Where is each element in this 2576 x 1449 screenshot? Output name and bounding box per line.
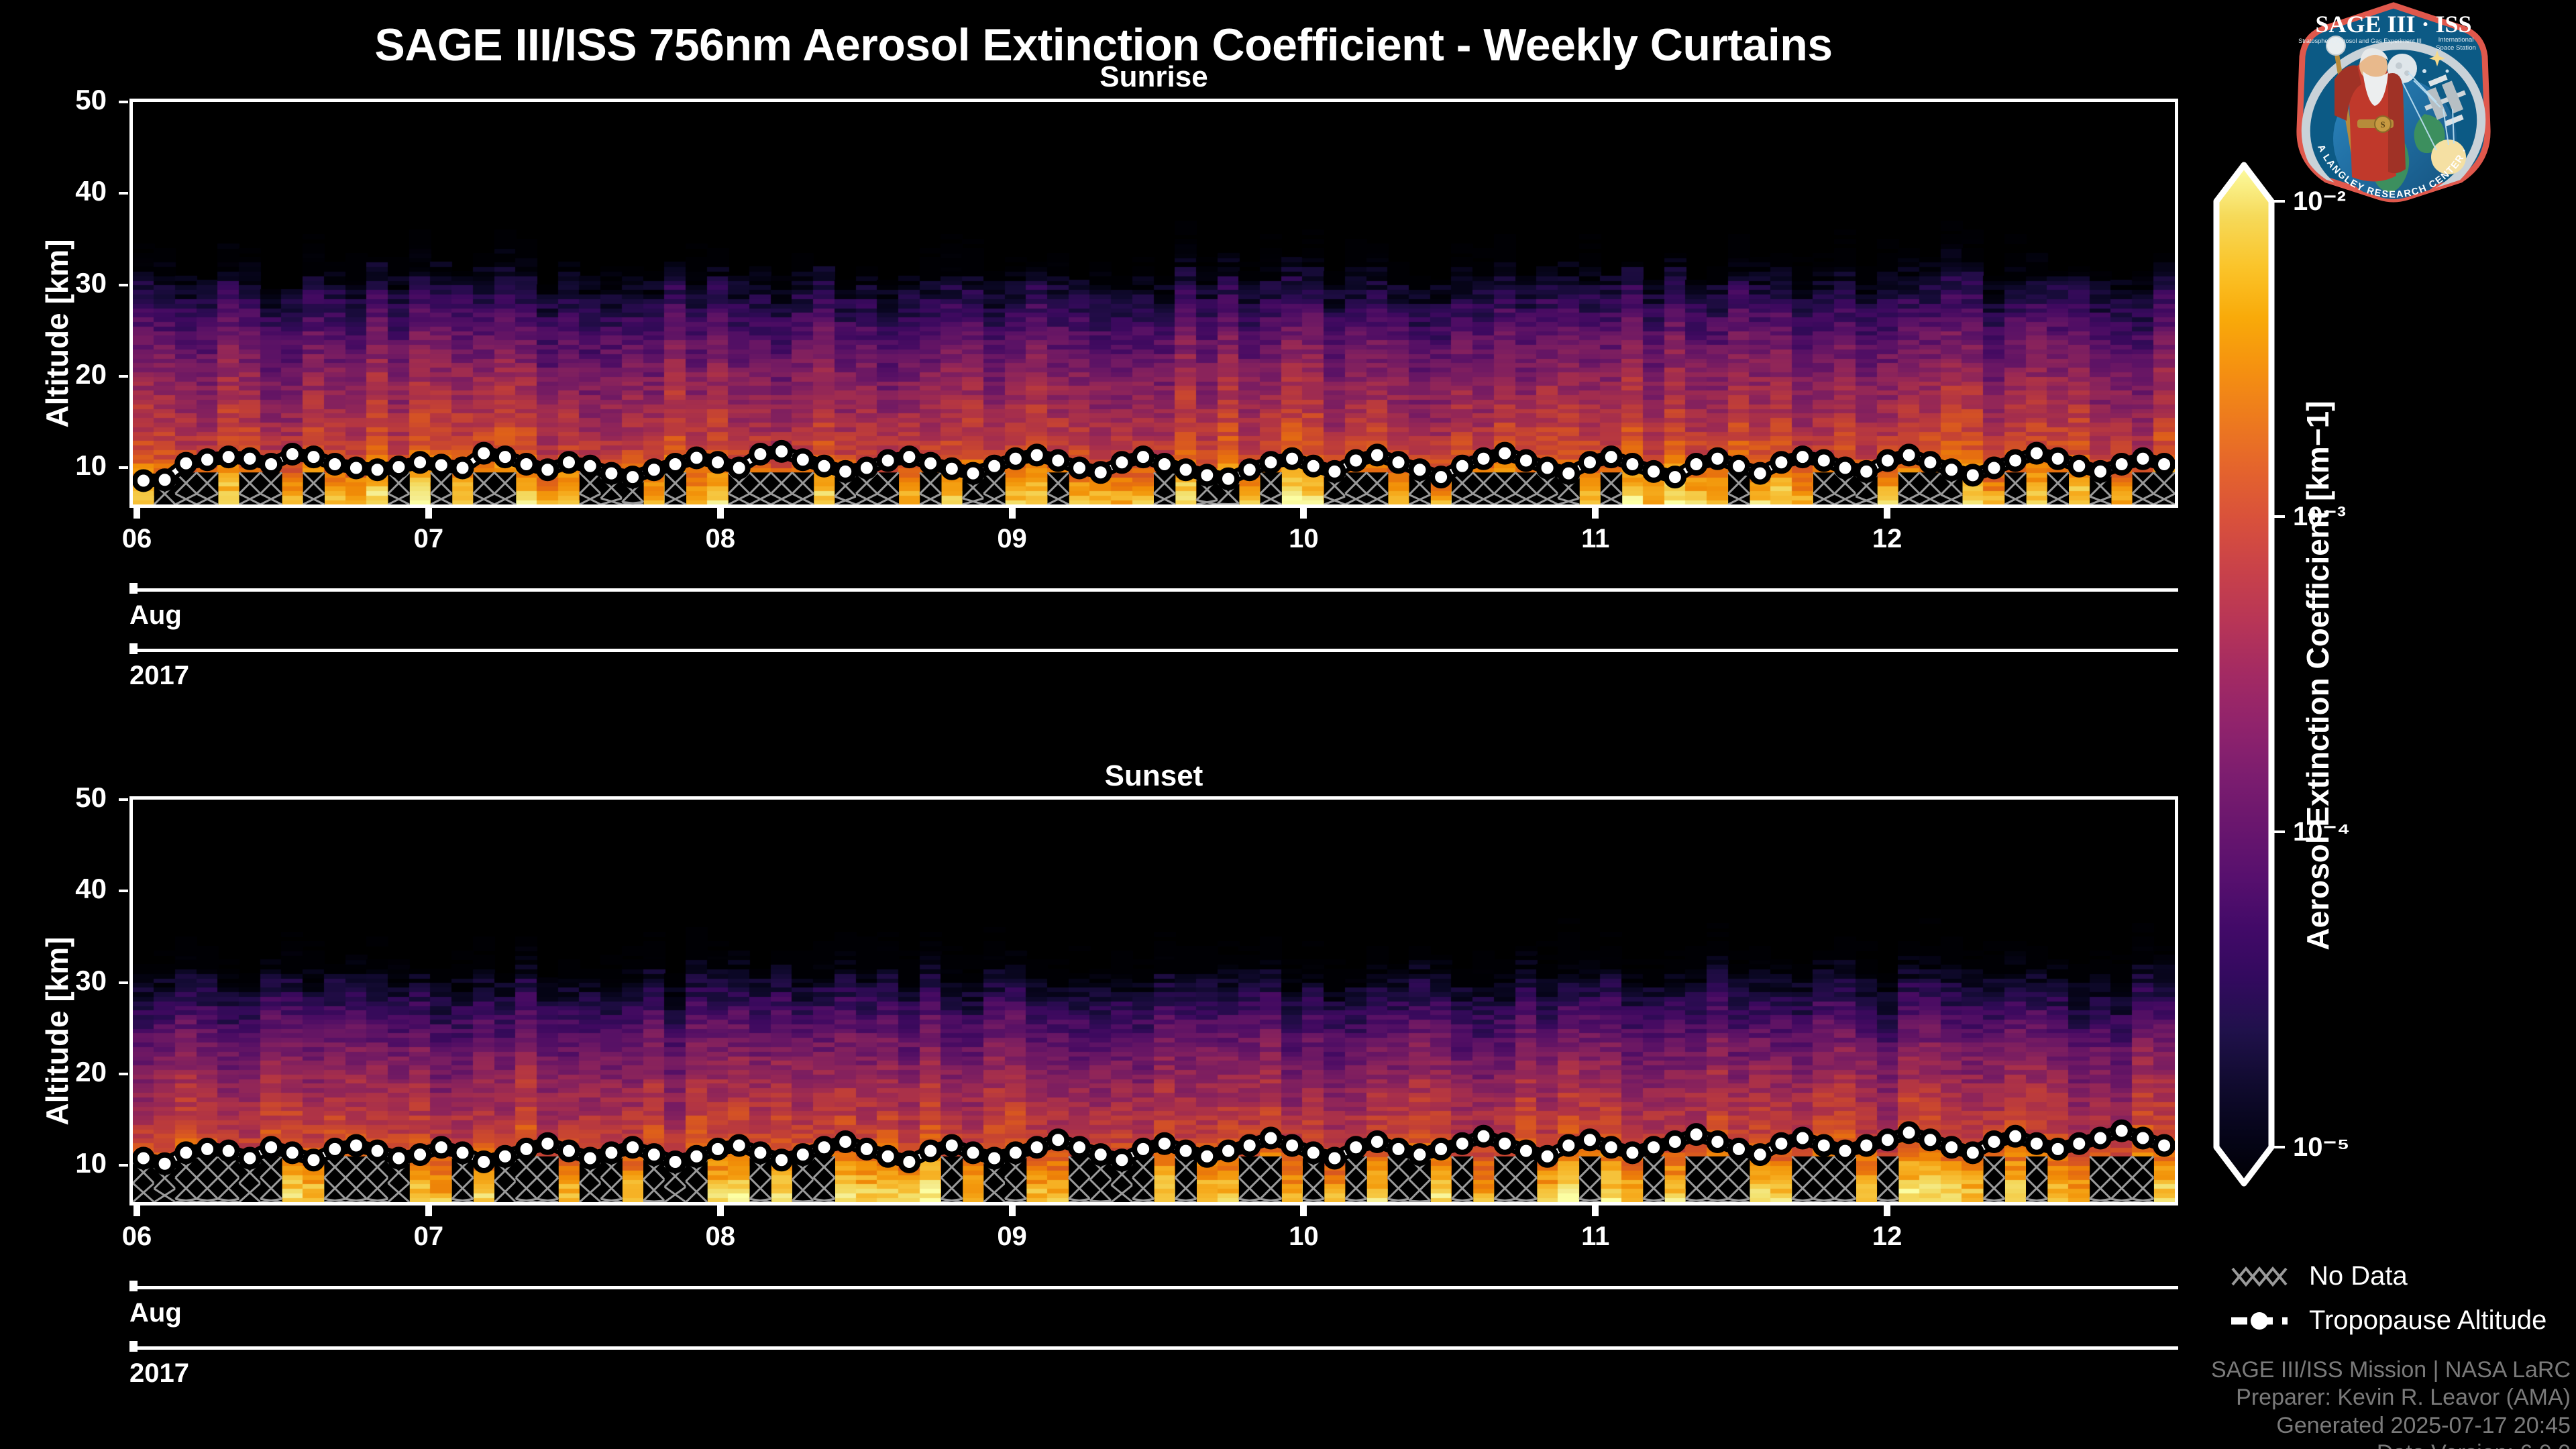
y-tick-label: 40	[0, 873, 107, 905]
x-tick-label: 07	[414, 524, 444, 554]
tropopause-marker	[390, 458, 407, 476]
tropopause-marker	[731, 1137, 748, 1155]
tropopause-marker	[985, 1150, 1003, 1167]
tropopause-marker	[1921, 453, 1939, 471]
tropopause-marker	[879, 1148, 897, 1165]
tropopause-marker	[1326, 1150, 1344, 1167]
tropopause-marker	[284, 1144, 301, 1161]
hatch-cross-icon	[2229, 1262, 2290, 1291]
tropopause-marker	[1283, 1137, 1301, 1155]
x-tick-mark	[717, 1205, 724, 1216]
tropopause-marker	[1900, 446, 1918, 464]
logo-subtitle-right-2: Space Station	[2436, 44, 2476, 52]
tropopause-marker	[900, 1153, 918, 1171]
tropopause-marker	[518, 1140, 535, 1158]
tropopause-marker	[965, 465, 982, 482]
x-tick-mark	[717, 508, 724, 519]
tropopause-marker	[2134, 450, 2151, 468]
tropopause-marker	[241, 1150, 258, 1167]
tropopause-marker	[326, 455, 343, 473]
y-tick-mark	[119, 101, 128, 103]
tropopause-marker	[1071, 460, 1088, 477]
footer-line-preparer: Preparer: Kevin R. Leavor (AMA)	[2155, 1384, 2571, 1411]
tropopause-marker	[560, 453, 578, 471]
tropopause-marker	[985, 458, 1003, 475]
tropopause-marker	[220, 1142, 237, 1160]
tropopause-marker	[454, 460, 472, 477]
tropopause-marker	[1986, 460, 2003, 477]
tropopause-marker	[1794, 448, 1811, 466]
tropopause-marker	[539, 1135, 556, 1152]
tropopause-marker	[1815, 1137, 1833, 1155]
tropopause-marker	[751, 445, 769, 463]
tropopause-marker	[1454, 1135, 1471, 1152]
tropopause-marker	[1496, 445, 1513, 462]
tropopause-marker	[879, 452, 897, 470]
x-tick-label: 12	[1872, 524, 1902, 554]
y-tick-label: 40	[0, 175, 107, 207]
x-tick-label: 08	[705, 524, 735, 554]
x-tick-mark	[1009, 508, 1016, 519]
date-rule-cap-month-sunset	[129, 1281, 138, 1291]
tropopause-marker	[1071, 1138, 1088, 1156]
tropopause-marker	[284, 445, 301, 463]
colorbar-axis-label: Aerosol Extinction Coefficient [km−1]	[2300, 213, 2336, 1138]
tropopause-marker	[1560, 465, 1577, 482]
tropopause-marker	[1900, 1124, 1918, 1141]
tropopause-marker	[602, 465, 620, 482]
tropopause-marker	[1964, 1144, 1982, 1161]
legend-label-tropopause: Tropopause Altitude	[2309, 1305, 2546, 1336]
tropopause-marker	[1837, 1142, 1854, 1160]
y-tick-mark	[119, 1164, 128, 1167]
tropopause-marker	[1837, 460, 1854, 477]
tropopause-marker	[1134, 1140, 1152, 1158]
y-tick-mark	[119, 798, 128, 801]
tropopause-marker	[1858, 463, 1875, 480]
date-group-year-sunrise: 2017	[129, 661, 189, 691]
tropopause-marker	[1411, 461, 1428, 478]
tropopause-marker	[1432, 1140, 1450, 1158]
tropopause-marker	[1390, 453, 1407, 471]
colorbar-tick-mark	[2274, 1146, 2285, 1148]
tropopause-marker	[1603, 1138, 1620, 1156]
legend-label-no-data: No Data	[2309, 1261, 2408, 1291]
tropopause-marker	[1220, 470, 1237, 488]
tropopause-marker	[773, 443, 790, 460]
tropopause-marker	[1879, 452, 1896, 470]
tropopause-overlay-sunset	[133, 800, 2175, 1202]
logo-title: SAGE III · ISS	[2315, 11, 2471, 38]
tropopause-marker	[837, 463, 854, 480]
tropopause-marker	[475, 1153, 492, 1171]
tropopause-marker	[1517, 1142, 1535, 1160]
panel-title-sunrise: Sunrise	[129, 60, 2178, 94]
x-tick-mark	[1592, 1205, 1599, 1216]
date-rule-month-sunset	[129, 1286, 2178, 1289]
tropopause-marker	[1368, 446, 1386, 464]
tropopause-marker	[1241, 1137, 1258, 1155]
tropopause-marker	[1092, 464, 1110, 481]
tropopause-marker	[858, 460, 875, 477]
tropopause-marker	[177, 455, 195, 472]
y-tick-label: 10	[0, 1147, 107, 1179]
tropopause-marker	[1198, 466, 1216, 484]
tropopause-marker	[1475, 1128, 1493, 1145]
tropopause-marker	[1241, 461, 1258, 478]
y-tick-label: 50	[0, 782, 107, 814]
x-tick-label: 06	[122, 1222, 152, 1252]
tropopause-marker	[347, 1137, 365, 1155]
footer-line-version: Data Version: 6.0.0	[2155, 1440, 2571, 1449]
tropopause-marker	[1879, 1131, 1896, 1148]
logo-patch-icon: S BALL · NASA LANGLEY RESEARCH CENTER · …	[2293, 1, 2494, 203]
legend-item-no-data: No Data	[2229, 1261, 2408, 1291]
x-tick-mark	[1884, 1205, 1890, 1216]
footer-line-generated: Generated 2025-07-17 20:45	[2155, 1412, 2571, 1440]
tropopause-marker	[156, 471, 174, 488]
legend-item-tropopause: Tropopause Altitude	[2229, 1305, 2546, 1336]
y-tick-mark	[119, 1073, 128, 1075]
tropopause-marker	[2070, 458, 2088, 475]
tropopause-marker	[1007, 450, 1024, 468]
tropopause-marker	[1539, 1148, 1556, 1165]
logo-subtitle-left: Stratospheric Aerosol and Gas Experiment…	[2298, 38, 2422, 44]
x-tick-label: 09	[997, 1222, 1027, 1252]
tropopause-marker	[1347, 452, 1364, 470]
tropopause-marker	[454, 1144, 472, 1161]
tropopause-marker	[1134, 448, 1152, 466]
tropopause-marker	[1028, 1138, 1046, 1156]
tropopause-marker	[156, 1155, 174, 1173]
tropopause-marker	[1581, 453, 1599, 471]
tropopause-marker	[475, 445, 492, 462]
y-tick-label: 10	[0, 449, 107, 482]
tropopause-marker	[2006, 452, 2024, 470]
date-rule-cap-year-sunrise	[129, 643, 138, 654]
tropopause-marker	[667, 1153, 684, 1171]
x-tick-label: 09	[997, 524, 1027, 554]
tropopause-marker	[2092, 1130, 2109, 1147]
x-tick-label: 10	[1289, 524, 1319, 554]
y-tick-label: 20	[0, 358, 107, 390]
tropopause-marker	[1262, 453, 1279, 471]
y-tick-mark	[119, 375, 128, 378]
tropopause-marker	[369, 1142, 386, 1160]
tropopause-marker	[1964, 466, 1982, 484]
tropopause-marker	[1517, 452, 1535, 470]
tropopause-marker	[731, 460, 748, 477]
x-tick-label: 08	[705, 1222, 735, 1252]
tropopause-marker	[1921, 1131, 1939, 1148]
tropopause-marker	[135, 472, 152, 490]
tropopause-marker	[709, 1140, 727, 1158]
tropopause-marker	[1794, 1130, 1811, 1147]
tropopause-marker	[2113, 455, 2131, 473]
x-tick-label: 12	[1872, 1222, 1902, 1252]
tropopause-marker	[2070, 1135, 2088, 1152]
x-tick-label: 10	[1289, 1222, 1319, 1252]
tropopause-marker	[1092, 1146, 1110, 1163]
tropopause-marker	[1411, 1146, 1428, 1163]
tropopause-marker	[262, 1138, 280, 1156]
tropopause-marker	[624, 1138, 641, 1156]
tropopause-marker	[1539, 460, 1556, 477]
y-tick-mark	[119, 284, 128, 286]
tropopause-marker	[1752, 1146, 1769, 1163]
tropopause-marker	[1177, 461, 1195, 478]
tropopause-marker	[773, 1151, 790, 1169]
tropopause-marker	[1730, 1140, 1748, 1158]
x-tick-mark	[425, 508, 432, 519]
tropopause-marker	[262, 455, 280, 473]
tropopause-marker	[816, 458, 833, 475]
tropopause-marker	[1113, 453, 1130, 471]
tropopause-marker	[965, 1144, 982, 1161]
tropopause-marker	[1752, 465, 1769, 482]
tropopause-marker	[1858, 1137, 1875, 1155]
tropopause-marker	[922, 455, 939, 472]
tropopause-marker	[1645, 1138, 1662, 1156]
tropopause-marker	[518, 455, 535, 473]
tropopause-marker	[1156, 455, 1173, 473]
tropopause-marker	[496, 448, 514, 466]
tropopause-marker	[369, 461, 386, 478]
tropopause-marker	[411, 1146, 429, 1163]
date-group-month-sunset: Aug	[129, 1298, 182, 1328]
tropopause-marker	[667, 455, 684, 473]
x-tick-label: 11	[1581, 524, 1609, 554]
x-tick-mark	[1300, 1205, 1307, 1216]
tropopause-marker	[624, 468, 641, 486]
svg-text:S: S	[2380, 119, 2385, 129]
legend: No Data Tropopause Altitude	[2229, 1261, 2576, 1348]
tropopause-marker	[1560, 1137, 1577, 1155]
tropopause-marker	[1475, 450, 1493, 468]
date-rule-year-sunset	[129, 1346, 2178, 1350]
date-rule-cap-year-sunset	[129, 1341, 138, 1352]
tropopause-marker	[1709, 450, 1726, 468]
tropopause-marker	[943, 460, 961, 478]
date-rule-year-sunrise	[129, 649, 2178, 652]
tropopause-marker	[1454, 458, 1471, 475]
tropopause-marker	[347, 460, 365, 477]
tropopause-marker	[1326, 463, 1344, 480]
colorbar-tick-mark	[2274, 200, 2285, 203]
tropopause-marker	[602, 1144, 620, 1161]
panel-title-sunset: Sunset	[129, 759, 2178, 793]
tropopause-marker	[177, 1144, 195, 1161]
tropopause-marker	[433, 456, 450, 474]
tropopause-marker	[135, 1150, 152, 1167]
panel-sunrise: Sunrise Altitude [km] 1020304050 0607080…	[0, 60, 2207, 704]
tropopause-marker	[1986, 1133, 2003, 1150]
y-tick-label: 20	[0, 1056, 107, 1088]
tropopause-marker	[1347, 1138, 1364, 1156]
tropopause-marker	[2092, 463, 2109, 480]
tropopause-marker	[2028, 445, 2045, 462]
colorbar-tick-mark	[2274, 830, 2285, 833]
tropopause-marker	[922, 1142, 939, 1160]
tropopause-marker	[1177, 1142, 1195, 1160]
tropopause-marker	[390, 1150, 407, 1167]
sage-iii-iss-logo: S BALL · NASA LANGLEY RESEARCH CENTER · …	[2293, 1, 2494, 203]
tropopause-marker	[2155, 455, 2173, 473]
y-tick-label: 50	[0, 84, 107, 116]
tropopause-marker	[411, 453, 429, 471]
tropopause-marker	[1772, 1135, 1790, 1152]
tropopause-marker	[1645, 463, 1662, 480]
tropopause-marker	[1943, 461, 1960, 478]
tropopause-marker	[1815, 452, 1833, 470]
tropopause-marker	[305, 1151, 323, 1169]
no-data-hatch	[133, 1157, 2154, 1202]
colorbar-gradient	[2207, 161, 2281, 1187]
tropopause-marker	[1496, 1135, 1513, 1152]
line-circle-icon	[2229, 1306, 2290, 1336]
date-group-month-sunrise: Aug	[129, 600, 182, 631]
tropopause-marker	[858, 1140, 875, 1158]
tropopause-marker	[1220, 1142, 1237, 1160]
x-tick-mark	[1592, 508, 1599, 519]
tropopause-marker	[2049, 1140, 2067, 1158]
x-tick-mark	[133, 508, 140, 519]
tropopause-marker	[1581, 1131, 1599, 1148]
tropopause-marker	[1603, 448, 1620, 466]
tropopause-marker	[582, 1150, 599, 1167]
tropopause-marker	[794, 451, 812, 468]
tropopause-marker	[1390, 1140, 1407, 1158]
tropopause-marker	[241, 450, 258, 468]
tropopause-marker	[433, 1138, 450, 1156]
tropopause-marker	[1688, 455, 1705, 473]
tropopause-marker	[816, 1138, 833, 1156]
tropopause-marker	[1305, 458, 1322, 475]
colorbar-tick-mark	[2274, 515, 2285, 518]
tropopause-marker	[1943, 1138, 1960, 1156]
date-rule-month-sunrise	[129, 588, 2178, 592]
x-tick-label: 06	[122, 524, 152, 554]
tropopause-marker	[1730, 458, 1748, 475]
tropopause-marker	[582, 458, 599, 475]
tropopause-marker	[1049, 452, 1067, 470]
tropopause-marker	[220, 448, 237, 466]
tropopause-marker	[1623, 455, 1641, 473]
tropopause-marker	[496, 1148, 514, 1165]
plot-area-sunrise	[129, 99, 2178, 508]
tropopause-marker	[2006, 1128, 2024, 1145]
x-tick-label: 07	[414, 1222, 444, 1252]
tropopause-marker	[2134, 1130, 2151, 1147]
footer-credits: SAGE III/ISS Mission | NASA LaRC Prepare…	[2155, 1356, 2571, 1449]
tropopause-marker	[2155, 1137, 2173, 1155]
tropopause-marker	[305, 448, 323, 466]
x-tick-mark	[133, 1205, 140, 1216]
colorbar: 10⁻²10⁻³10⁻⁴10⁻⁵ Aerosol Extinction Coef…	[2207, 161, 2381, 1187]
tropopause-marker	[943, 1137, 961, 1155]
tropopause-marker	[2028, 1135, 2045, 1152]
y-tick-mark	[119, 192, 128, 195]
tropopause-marker	[645, 1146, 663, 1163]
tropopause-marker	[709, 453, 727, 471]
tropopause-marker	[1666, 1133, 1684, 1150]
tropopause-marker	[688, 1148, 705, 1165]
tropopause-marker	[326, 1140, 343, 1158]
y-tick-label: 30	[0, 267, 107, 299]
date-group-year-sunset: 2017	[129, 1358, 189, 1389]
tropopause-marker	[1688, 1126, 1705, 1143]
tropopause-marker	[1623, 1144, 1641, 1161]
footer-line-mission: SAGE III/ISS Mission | NASA LaRC	[2155, 1356, 2571, 1384]
panel-sunset: Sunset Altitude [km] 1020304050 06070809…	[0, 738, 2207, 1395]
tropopause-marker	[688, 449, 705, 467]
tropopause-marker	[2049, 450, 2067, 468]
tropopause-marker	[900, 448, 918, 466]
logo-subtitle-right-1: International	[2438, 36, 2474, 44]
tropopause-marker	[751, 1144, 769, 1161]
tropopause-marker	[794, 1146, 812, 1163]
y-tick-mark	[119, 466, 128, 469]
tropopause-marker	[837, 1133, 854, 1150]
tropopause-marker	[1772, 453, 1790, 471]
tropopause-marker	[539, 461, 556, 478]
tropopause-marker	[2113, 1122, 2131, 1140]
x-tick-mark	[425, 1205, 432, 1216]
x-tick-mark	[1009, 1205, 1016, 1216]
y-tick-mark	[119, 981, 128, 984]
tropopause-marker	[199, 451, 216, 468]
x-tick-label: 11	[1581, 1222, 1609, 1252]
tropopause-marker	[1283, 450, 1301, 468]
tropopause-marker	[1049, 1131, 1067, 1148]
tropopause-marker	[1432, 468, 1450, 486]
plot-area-sunset	[129, 796, 2178, 1205]
tropopause-marker	[1113, 1151, 1130, 1169]
y-tick-mark	[119, 890, 128, 892]
tropopause-marker	[1666, 468, 1684, 486]
tropopause-marker	[560, 1142, 578, 1160]
tropopause-marker	[1262, 1130, 1279, 1147]
tropopause-marker	[1156, 1135, 1173, 1152]
tropopause-marker	[645, 461, 663, 478]
tropopause-marker	[1198, 1148, 1216, 1165]
tropopause-overlay-sunrise	[133, 102, 2175, 504]
tropopause-marker	[1368, 1133, 1386, 1150]
y-tick-label: 30	[0, 965, 107, 997]
tropopause-marker	[1305, 1144, 1322, 1161]
tropopause-marker	[1709, 1133, 1726, 1150]
date-rule-cap-month-sunrise	[129, 583, 138, 594]
tropopause-marker	[199, 1140, 216, 1158]
x-tick-mark	[1884, 508, 1890, 519]
x-tick-mark	[1300, 508, 1307, 519]
tropopause-marker	[1028, 446, 1046, 464]
tropopause-marker	[1007, 1144, 1024, 1161]
